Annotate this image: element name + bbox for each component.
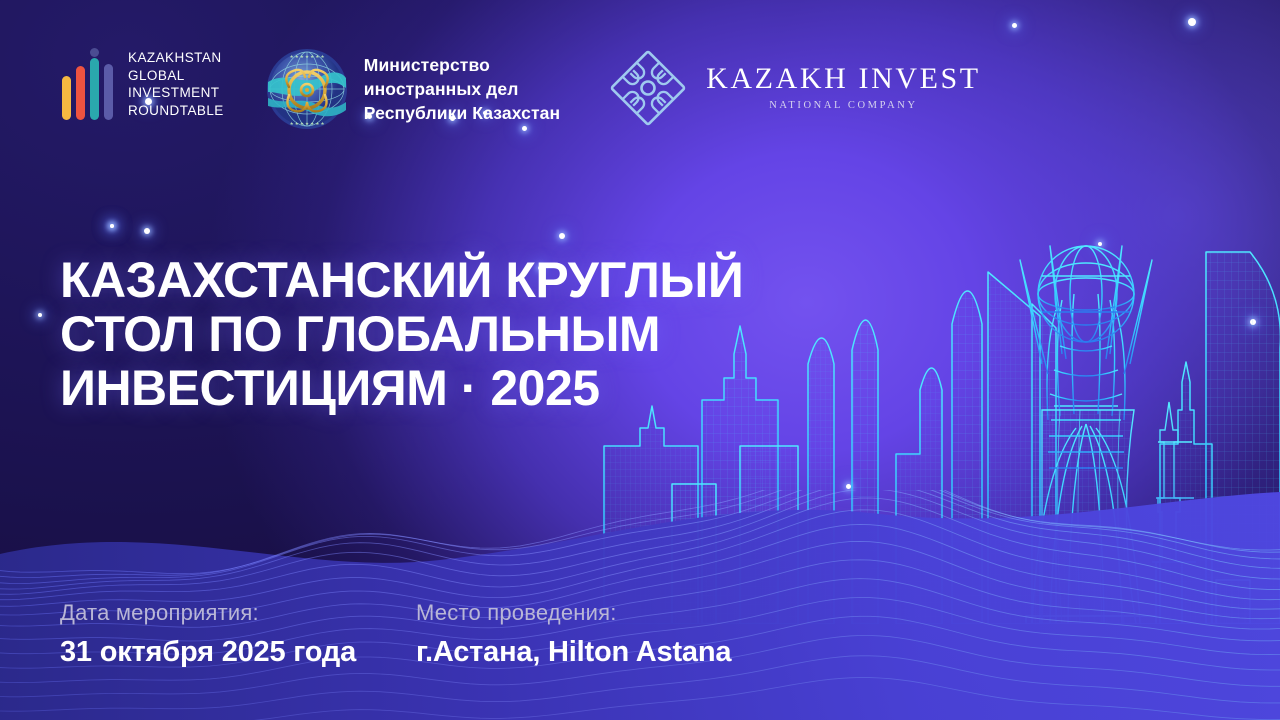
logo-kgir-text: KAZAKHSTAN GLOBAL INVESTMENT ROUNDTABLE: [128, 49, 224, 119]
logo-bar-2: [76, 66, 85, 120]
mfa-line-2: иностранных дел: [364, 77, 560, 101]
logo-bar-1: [62, 76, 71, 120]
logo-kgir: KAZAKHSTAN GLOBAL INVESTMENT ROUNDTABLE: [62, 48, 224, 120]
star-particle: [110, 224, 114, 228]
mfa-line-1: Министерство: [364, 53, 560, 77]
kgir-line-4: ROUNDTABLE: [128, 102, 224, 120]
logo-dot-icon: [90, 48, 99, 57]
bar-chart-mark-icon: [62, 48, 114, 120]
kazakh-invest-tagline: NATIONAL COMPANY: [769, 98, 917, 114]
star-particle: [559, 233, 565, 239]
svg-text:★ ★ ★ ★ ★ ★ ★: ★ ★ ★ ★ ★ ★ ★: [289, 54, 324, 59]
logo-mfa-text: Министерство иностранных дел Республики …: [364, 53, 560, 125]
star-particle: [144, 228, 150, 234]
logo-header: KAZAKHSTAN GLOBAL INVESTMENT ROUNDTABLE: [0, 0, 1280, 170]
svg-text:★ ★ ★ ★ ★ ★ ★: ★ ★ ★ ★ ★ ★ ★: [289, 121, 324, 126]
kgir-line-2: GLOBAL: [128, 67, 224, 85]
event-poster: KAZAKHSTAN GLOBAL INVESTMENT ROUNDTABLE: [0, 0, 1280, 720]
logo-bar-3: [90, 58, 99, 120]
logo-bar-4: [104, 64, 113, 120]
event-venue-block: Место проведения: г.Астана, Hilton Astan…: [416, 598, 731, 672]
title-line-2: СТОЛ ПО ГЛОБАЛЬНЫМ: [60, 307, 743, 361]
kazakh-invest-wordmark: KAZAKH INVEST: [706, 62, 981, 96]
logo-mfa: ★ ★ ★ ★ ★ ★ ★ ★ ★ ★ ★ ★ ★ ★ Министерство…: [266, 48, 560, 130]
mfa-line-3: Республики Казахстан: [364, 101, 560, 125]
kazakh-invest-diamond-icon: [608, 48, 688, 128]
mfa-emblem-icon: ★ ★ ★ ★ ★ ★ ★ ★ ★ ★ ★ ★ ★ ★: [266, 48, 348, 130]
event-details: Дата мероприятия: 31 октября 2025 года М…: [60, 598, 731, 672]
event-date-value: 31 октября 2025 года: [60, 632, 356, 672]
logo-kazakh-invest: KAZAKH INVEST NATIONAL COMPANY: [608, 48, 981, 128]
kgir-line-1: KAZAKHSTAN: [128, 49, 224, 67]
page-title: КАЗАХСТАНСКИЙ КРУГЛЫЙ СТОЛ ПО ГЛОБАЛЬНЫМ…: [60, 253, 743, 415]
kgir-line-3: INVESTMENT: [128, 84, 224, 102]
event-date-label: Дата мероприятия:: [60, 598, 356, 628]
event-venue-label: Место проведения:: [416, 598, 731, 628]
title-line-1: КАЗАХСТАНСКИЙ КРУГЛЫЙ: [60, 253, 743, 307]
event-venue-value: г.Астана, Hilton Astana: [416, 632, 731, 672]
logo-kazakh-invest-text: KAZAKH INVEST NATIONAL COMPANY: [706, 62, 981, 114]
event-date-block: Дата мероприятия: 31 октября 2025 года: [60, 598, 356, 672]
title-line-3: ИНВЕСТИЦИЯМ · 2025: [60, 361, 743, 415]
star-particle: [38, 313, 42, 317]
